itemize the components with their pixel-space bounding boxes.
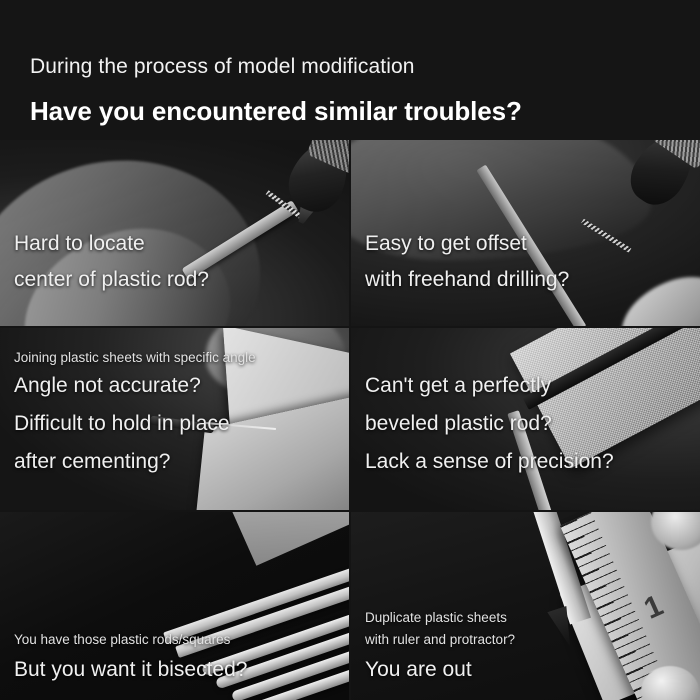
panel-beveled-rod: Can't get a perfectly beveled plastic ro… — [351, 328, 700, 510]
finger-shape — [610, 263, 700, 326]
panel-grid: Hard to locate center of plastic rod? Ea… — [0, 140, 700, 700]
panel-bisect-rods: You have those plastic rods/squares But … — [0, 512, 349, 700]
panel-caption-small-1: Duplicate plastic sheets — [365, 610, 507, 625]
panel-duplicate-sheets: 1 Duplicate plastic sheets with ruler an… — [351, 512, 700, 700]
panel-line-1: You are out — [365, 658, 472, 682]
panel-angle-accuracy: Joining plastic sheets with specific ang… — [0, 328, 349, 510]
header-subtitle: During the process of model modification — [30, 55, 415, 79]
panel-caption-small: Joining plastic sheets with specific ang… — [14, 350, 256, 365]
panel-drill-center: Hard to locate center of plastic rod? — [0, 140, 349, 326]
panel-line-1: Hard to locate — [14, 232, 145, 256]
promo-graphic: During the process of model modification… — [0, 0, 700, 700]
panel-caption-small: You have those plastic rods/squares — [14, 632, 230, 647]
panel-line-2: beveled plastic rod? — [365, 412, 552, 436]
panel-line-1: Easy to get offset — [365, 232, 527, 256]
panel-line-1: Can't get a perfectly — [365, 374, 551, 398]
ruler-number: 1 — [639, 589, 668, 627]
panel-caption-small-2: with ruler and protractor? — [365, 632, 515, 647]
panel-line-2: with freehand drilling? — [365, 268, 569, 292]
panel-line-3: after cementing? — [14, 450, 170, 474]
panel-line-2: center of plastic rod? — [14, 268, 209, 292]
header: During the process of model modification… — [0, 0, 700, 140]
background-sheet — [232, 512, 349, 566]
panel-line-2: Difficult to hold in place — [14, 412, 230, 436]
panel-line-1: But you want it bisected? — [14, 658, 247, 682]
page-title: Have you encountered similar troubles? — [30, 96, 522, 127]
panel-line-1: Angle not accurate? — [14, 374, 201, 398]
panel-freehand-offset: Easy to get offset with freehand drillin… — [351, 140, 700, 326]
panel-line-3: Lack a sense of precision? — [365, 450, 614, 474]
